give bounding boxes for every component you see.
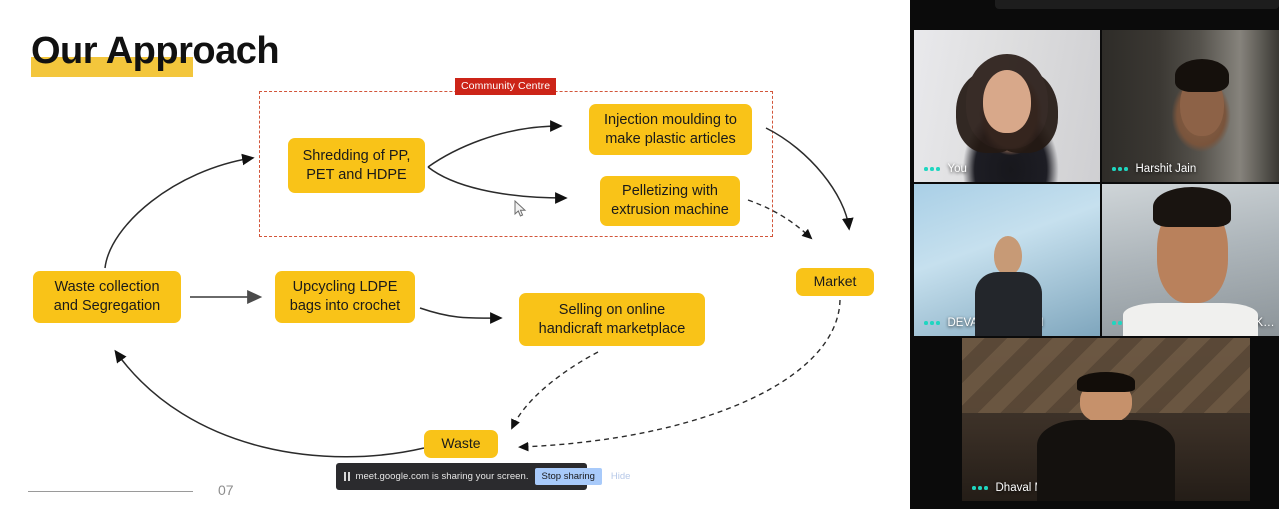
node-market: Market xyxy=(796,268,874,296)
share-message: meet.google.com is sharing your screen. xyxy=(356,471,529,482)
video-feed xyxy=(1102,184,1279,336)
participant-tile-patel-kevin[interactable]: PATEL KEVIN MANISHK… xyxy=(1102,184,1279,336)
participant-tile-devang-trivedi[interactable]: DEVANG TRIVEDI xyxy=(914,184,1100,336)
participant-nameplate: You xyxy=(914,156,1100,182)
page-title: Our Approach xyxy=(31,30,279,73)
node-selling-online: Selling on online handicraft marketplace xyxy=(519,293,705,346)
participant-name: Harshit Jain xyxy=(1136,163,1197,175)
participant-nameplate: Harshit Jain xyxy=(1102,156,1279,182)
hide-button[interactable]: Hide xyxy=(608,471,634,482)
node-waste-collection: Waste collection and Segregation xyxy=(33,271,181,323)
participant-name: You xyxy=(948,163,967,175)
pause-icon xyxy=(344,472,350,481)
mic-active-icon xyxy=(1112,167,1128,171)
participant-tile-you[interactable]: You xyxy=(914,30,1100,182)
shared-slide: Our Approach Community Centre xyxy=(0,0,910,509)
stop-sharing-button[interactable]: Stop sharing xyxy=(535,468,602,485)
node-waste: Waste xyxy=(424,430,498,458)
page-number: 07 xyxy=(218,482,234,498)
node-shredding: Shredding of PP, PET and HDPE xyxy=(288,138,425,193)
screen-share-bar: meet.google.com is sharing your screen. … xyxy=(336,463,587,490)
footer-rule xyxy=(28,491,193,492)
mic-active-icon xyxy=(972,486,988,490)
mic-active-icon xyxy=(924,321,940,325)
meet-top-bar-chip xyxy=(995,0,1279,9)
node-injection-moulding: Injection moulding to make plastic artic… xyxy=(589,104,752,155)
participant-tile-harshit-jain[interactable]: Harshit Jain xyxy=(1102,30,1279,182)
participant-tile-dhaval-mendapara[interactable]: Dhaval Mendapara xyxy=(962,338,1250,501)
meet-participants-panel: You Harshit Jain DEVANG TRIVEDI PATEL KE… xyxy=(910,0,1279,509)
meet-top-bar xyxy=(910,0,1279,29)
community-centre-label: Community Centre xyxy=(455,78,556,95)
node-pelletizing: Pelletizing with extrusion machine xyxy=(600,176,740,226)
node-upcycling-ldpe: Upcycling LDPE bags into crochet xyxy=(275,271,415,323)
mic-active-icon xyxy=(924,167,940,171)
mouse-cursor-icon xyxy=(514,200,527,218)
